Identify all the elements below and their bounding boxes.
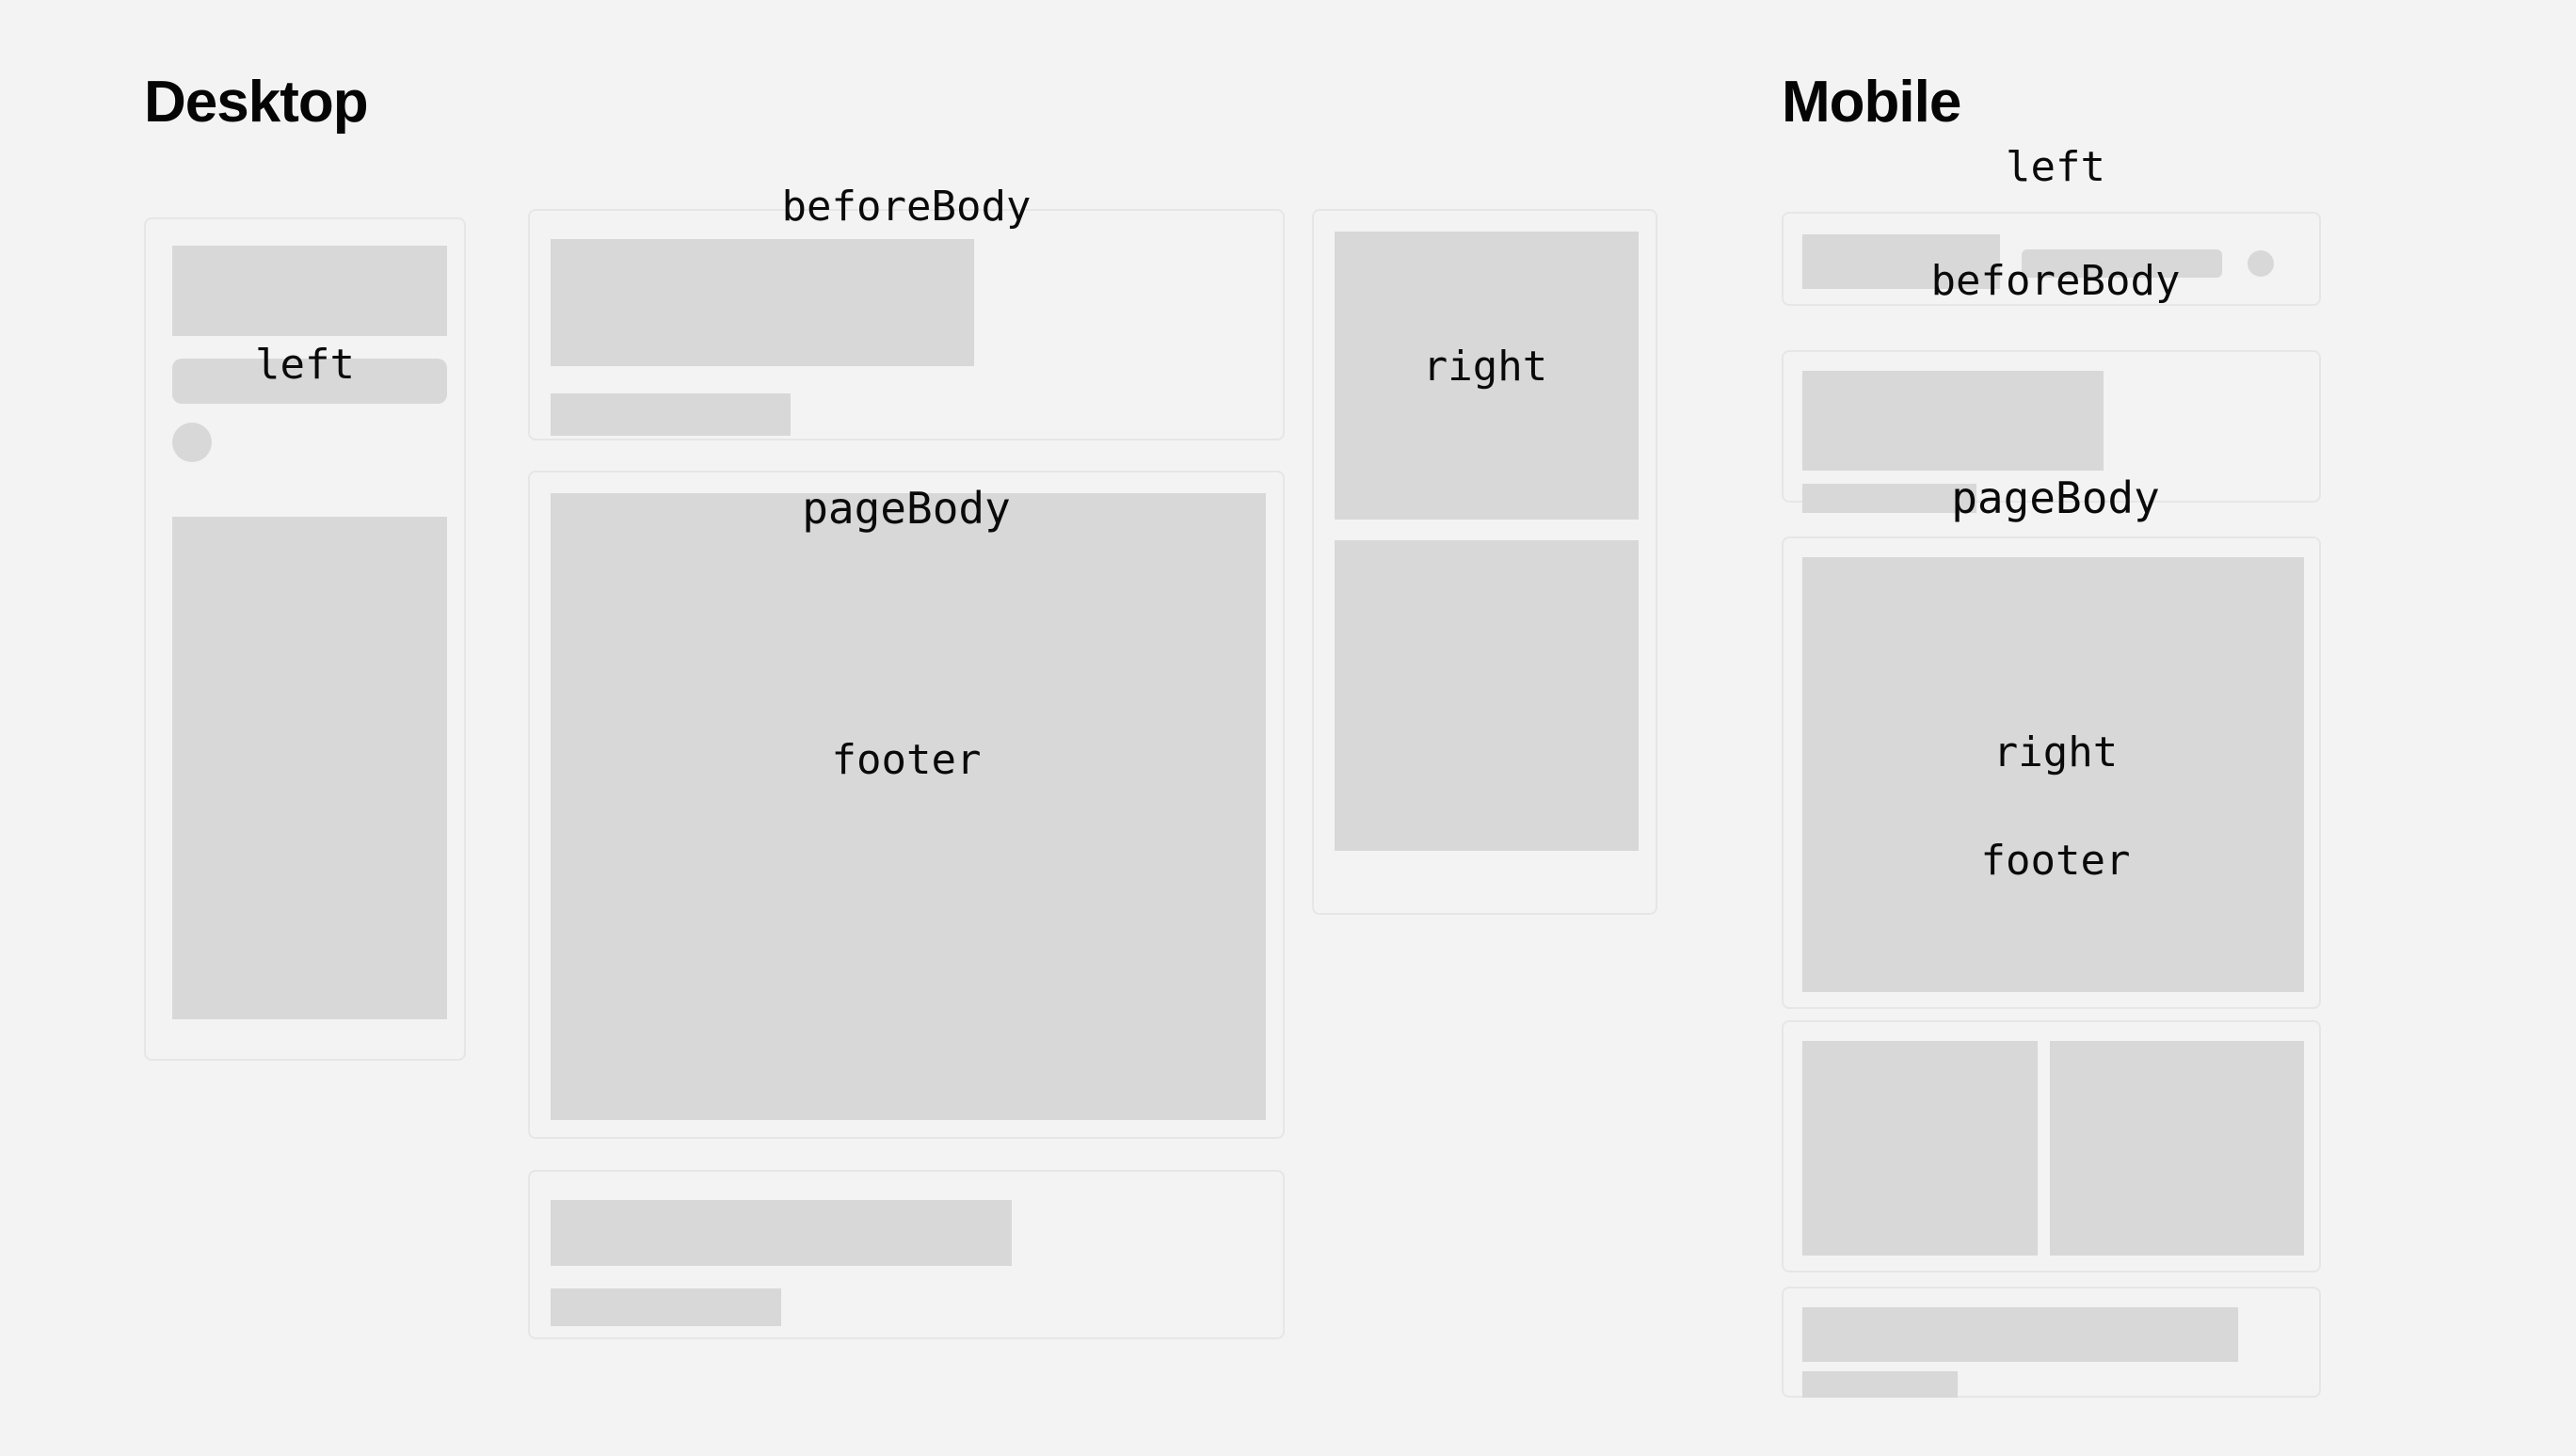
section-title-desktop: Desktop <box>144 73 368 132</box>
desktop-panel-pagebody[interactable] <box>528 471 1285 1139</box>
placeholder-rounded-bar <box>172 359 447 404</box>
mobile-panel-footer[interactable] <box>1782 1287 2321 1398</box>
circle-avatar-icon <box>2248 250 2274 277</box>
placeholder-rounded-bar <box>2022 249 2222 278</box>
mobile-panel-pagebody[interactable] <box>1782 536 2321 1009</box>
desktop-panel-footer[interactable] <box>528 1170 1285 1339</box>
placeholder-block-wide <box>551 239 974 366</box>
placeholder-block-square <box>1802 234 2000 289</box>
placeholder-block-small-bar <box>551 1288 781 1326</box>
placeholder-block-large <box>172 246 447 336</box>
section-title-mobile: Mobile <box>1782 73 1960 132</box>
desktop-panel-left[interactable] <box>144 217 466 1061</box>
mobile-panel-left[interactable] <box>1782 212 2321 306</box>
placeholder-block-wide <box>1802 371 2104 471</box>
mobile-panel-right[interactable] <box>1782 1020 2321 1272</box>
placeholder-block-small-bar <box>551 393 791 436</box>
desktop-panel-right[interactable] <box>1312 209 1657 915</box>
mobile-panel-beforebody[interactable] <box>1782 350 2321 503</box>
placeholder-block-wide-bar <box>1802 1307 2238 1362</box>
placeholder-block-top <box>1335 232 1639 520</box>
desktop-panel-beforebody[interactable] <box>528 209 1285 440</box>
placeholder-block-full <box>551 493 1266 1120</box>
mobile-slot-label-left: left <box>2006 147 2105 188</box>
placeholder-block-bottom <box>1335 540 1639 851</box>
wireframe-canvas: Desktop left beforeBody pageBody footer … <box>0 0 2576 1456</box>
placeholder-block-small-bar <box>1802 484 1976 513</box>
placeholder-block-tall <box>172 517 447 1019</box>
placeholder-block-wide-bar <box>551 1200 1012 1266</box>
placeholder-block-right-half <box>2050 1041 2304 1256</box>
placeholder-block-left-half <box>1802 1041 2038 1256</box>
circle-avatar-icon <box>172 423 212 462</box>
placeholder-block-full <box>1802 557 2304 992</box>
placeholder-block-small-bar <box>1802 1371 1958 1398</box>
